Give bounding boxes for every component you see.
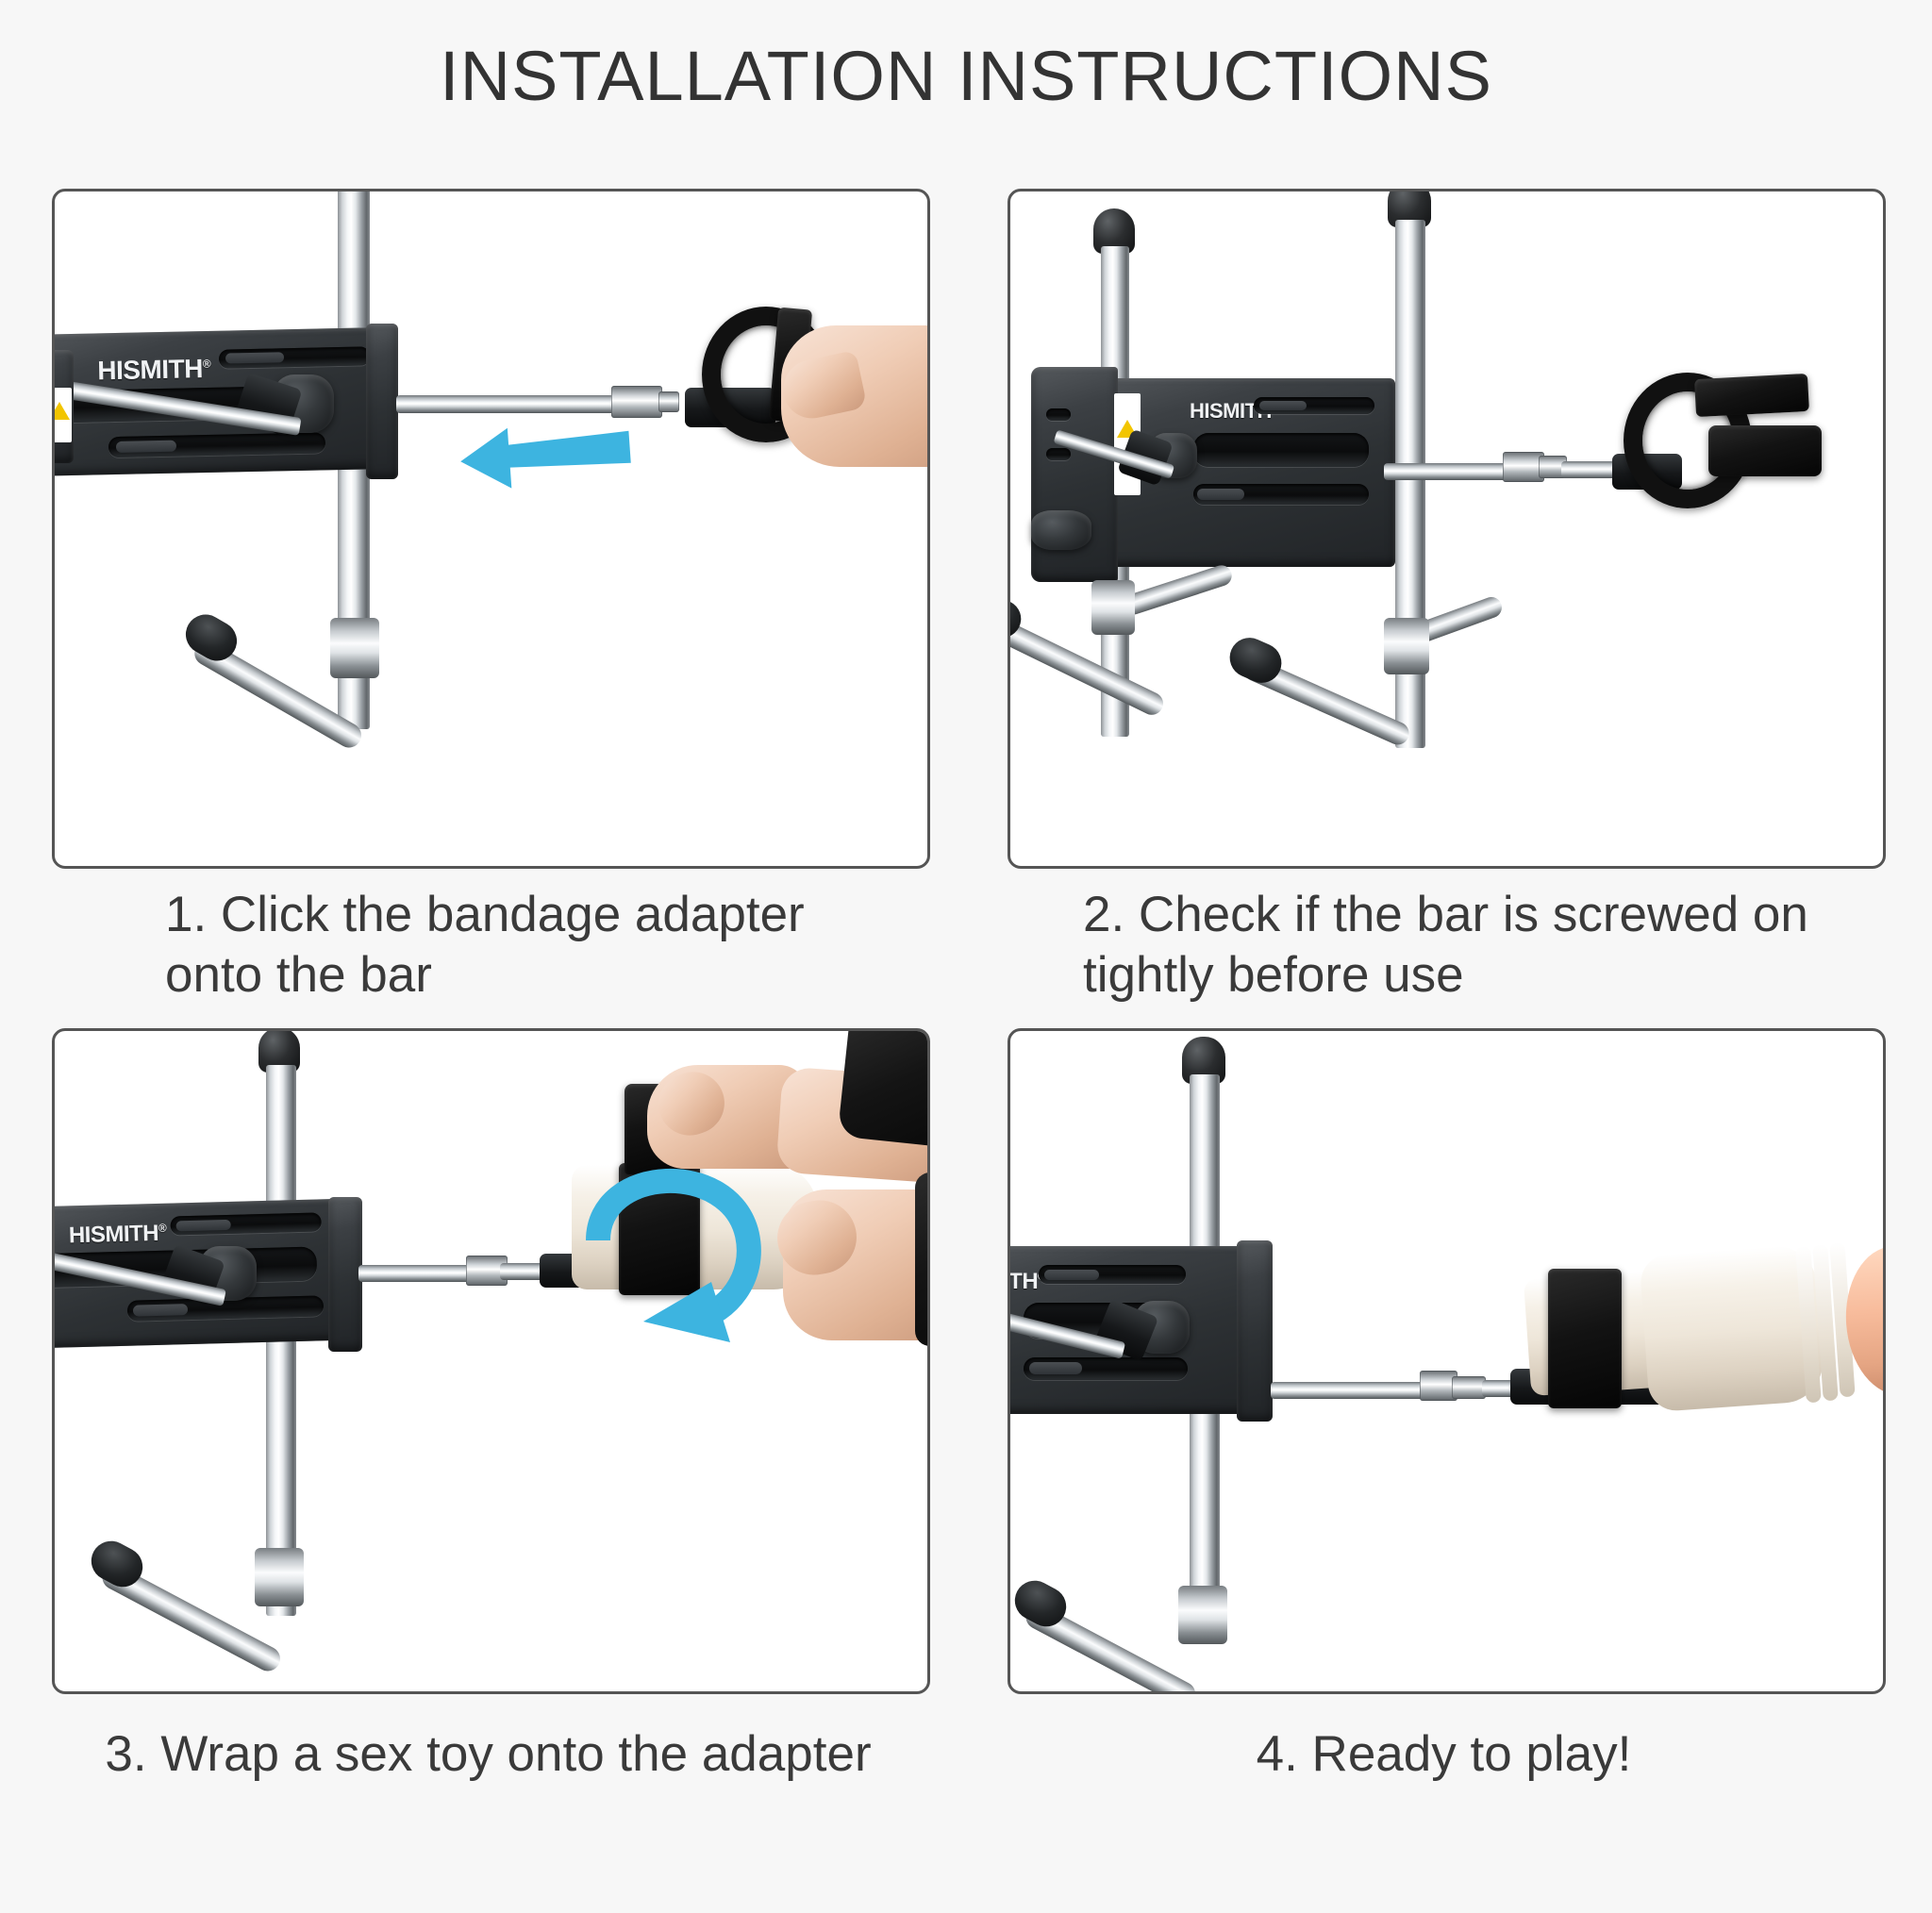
slot-tab-bottom [116,441,176,453]
bracket-hole-upper [1046,408,1071,421]
coupling-collar [1452,1376,1486,1399]
instruction-sheet: INSTALLATION INSTRUCTIONS HISMITH® [0,0,1932,1913]
tripod-leg-left-rear [1121,562,1235,617]
velcro-strap [1548,1269,1622,1408]
step-4-photo: HISMITH® [1008,1028,1886,1694]
step-3-caption: 3. Wrap a sex toy onto the adapter [52,1724,924,1785]
tripod-post-collar [255,1548,304,1606]
tripod-post-collar-left [1091,580,1135,635]
hismith-logo-text: HISMITH [1008,1269,1038,1294]
warning-triangle-icon [52,402,70,420]
machine-body-right-face [366,324,398,479]
body-slot-mid [1193,433,1369,467]
slot-tab-top [1259,401,1307,410]
slot-tab-bottom [1029,1362,1082,1374]
slot-tab-top [176,1220,231,1232]
hismith-logo: HISMITH® [97,354,211,387]
step-2-photo: HISMITH® [1008,189,1886,869]
slot-tab-top [225,352,284,363]
machine-body-right-face [1237,1240,1273,1422]
warning-sticker [52,388,72,442]
slot-tab-top [1044,1270,1099,1280]
bandage-adapter-strap-end [1708,425,1822,476]
hismith-logo-text: HISMITH [69,1221,159,1248]
step-2-caption: 2. Check if the bar is screwed on tightl… [1008,885,1880,1005]
page-title: INSTALLATION INSTRUCTIONS [0,36,1932,116]
black-sleeve-lower [915,1173,930,1346]
trademark-symbol: ® [158,1222,167,1235]
black-sleeve-upper [838,1028,930,1152]
direction-arrow-left [460,418,630,493]
chrome-rod [396,395,623,413]
step-4-caption: 4. Ready to play! [1008,1724,1880,1785]
bandage-adapter-strap-tail [1694,374,1809,417]
coupling-nut [611,386,662,418]
trademark-symbol: ® [203,358,211,371]
tripod-collar [330,618,379,678]
tripod-leg-left-front [1008,611,1167,719]
mounting-bracket [1031,367,1118,582]
coupling-nut-tip [658,391,679,412]
step-1-caption: 1. Click the bandage adapter onto the ba… [52,885,924,1005]
tripod-post-collar [1178,1586,1227,1644]
quick-release-lever[interactable] [1031,510,1091,550]
hismith-logo-text: HISMITH [97,354,203,385]
bracket-hole-lower [1046,448,1071,460]
slot-tab-bottom [1197,489,1244,500]
hismith-logo: HISMITH® [69,1221,167,1250]
step-1-photo: HISMITH® [52,189,930,869]
chrome-rod [1384,463,1516,480]
chrome-rod [358,1265,479,1282]
machine-body-right-face [328,1197,362,1352]
step-3-photo: HISMITH® [52,1028,930,1694]
slot-tab-bottom [133,1304,188,1317]
direction-arrow-curved [545,1116,809,1361]
tripod-post-collar-right [1384,618,1429,674]
chrome-rod [1271,1382,1433,1399]
